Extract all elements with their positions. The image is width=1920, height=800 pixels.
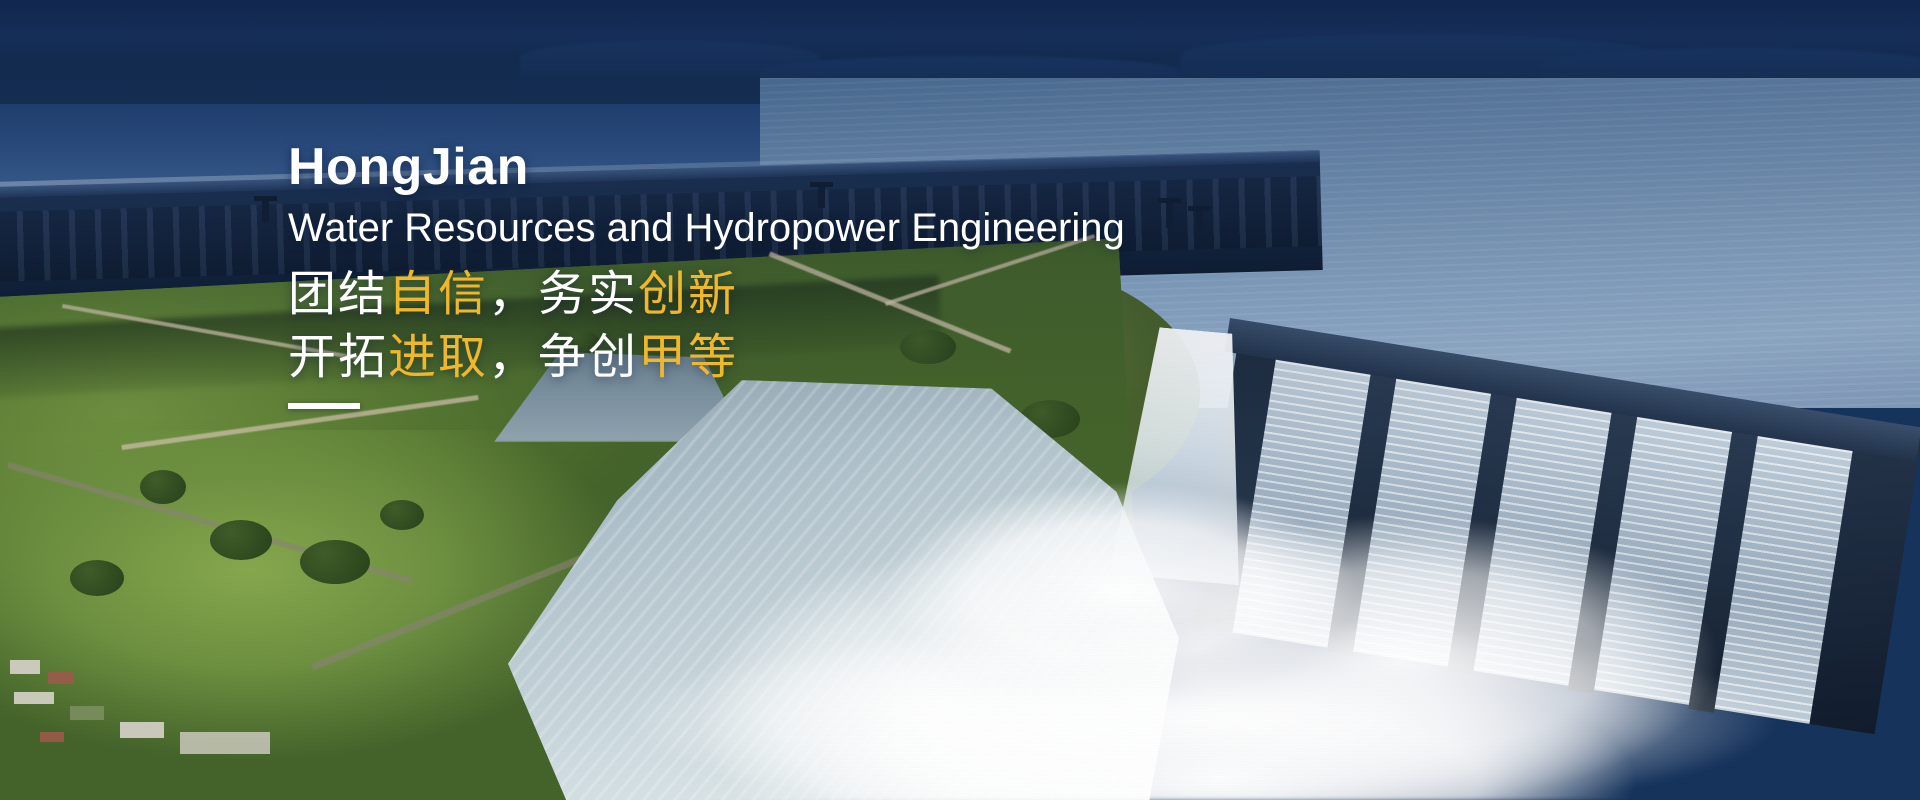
hero-banner: HongJian Water Resources and Hydropower … xyxy=(0,0,1920,800)
headland-4 xyxy=(1540,48,1920,82)
tree-cluster-2 xyxy=(210,520,272,560)
slogan-1-segment-0-plain: 团结 xyxy=(288,268,388,321)
slogan-2-segment-2-plain: ，争创 xyxy=(488,331,638,384)
slogan-2-segment-3-accent: 甲等 xyxy=(638,331,738,384)
building-1 xyxy=(10,660,40,674)
slogan-1-segment-2-plain: ，务实 xyxy=(488,268,638,321)
building-7 xyxy=(40,732,64,742)
village-cluster xyxy=(0,620,330,800)
building-4 xyxy=(70,706,104,720)
tree-cluster-3 xyxy=(70,560,124,596)
slogan-2-segment-0-plain: 开拓 xyxy=(288,331,388,384)
brand-subtitle: Water Resources and Hydropower Engineeri… xyxy=(288,205,1388,251)
banner-text-overlay: HongJian Water Resources and Hydropower … xyxy=(288,140,1388,409)
foam-base xyxy=(560,610,1920,800)
building-6 xyxy=(180,732,270,754)
building-2 xyxy=(48,672,74,684)
slogan-1-segment-3-accent: 创新 xyxy=(638,268,738,321)
slogan-line-2: 开拓进取，争创甲等 xyxy=(288,326,1388,389)
slogan-2-segment-1-accent: 进取 xyxy=(388,331,488,384)
brand-title: HongJian xyxy=(288,140,1388,195)
tree-cluster-1 xyxy=(140,470,186,504)
slogan-1-segment-1-accent: 自信 xyxy=(388,268,488,321)
accent-underline xyxy=(288,403,360,409)
building-3 xyxy=(14,692,54,704)
crest-pylon-1 xyxy=(262,196,269,222)
slogan-line-1: 团结自信，务实创新 xyxy=(288,263,1388,326)
tree-cluster-4 xyxy=(300,540,370,584)
building-5 xyxy=(120,722,164,738)
tree-cluster-5 xyxy=(380,500,424,530)
